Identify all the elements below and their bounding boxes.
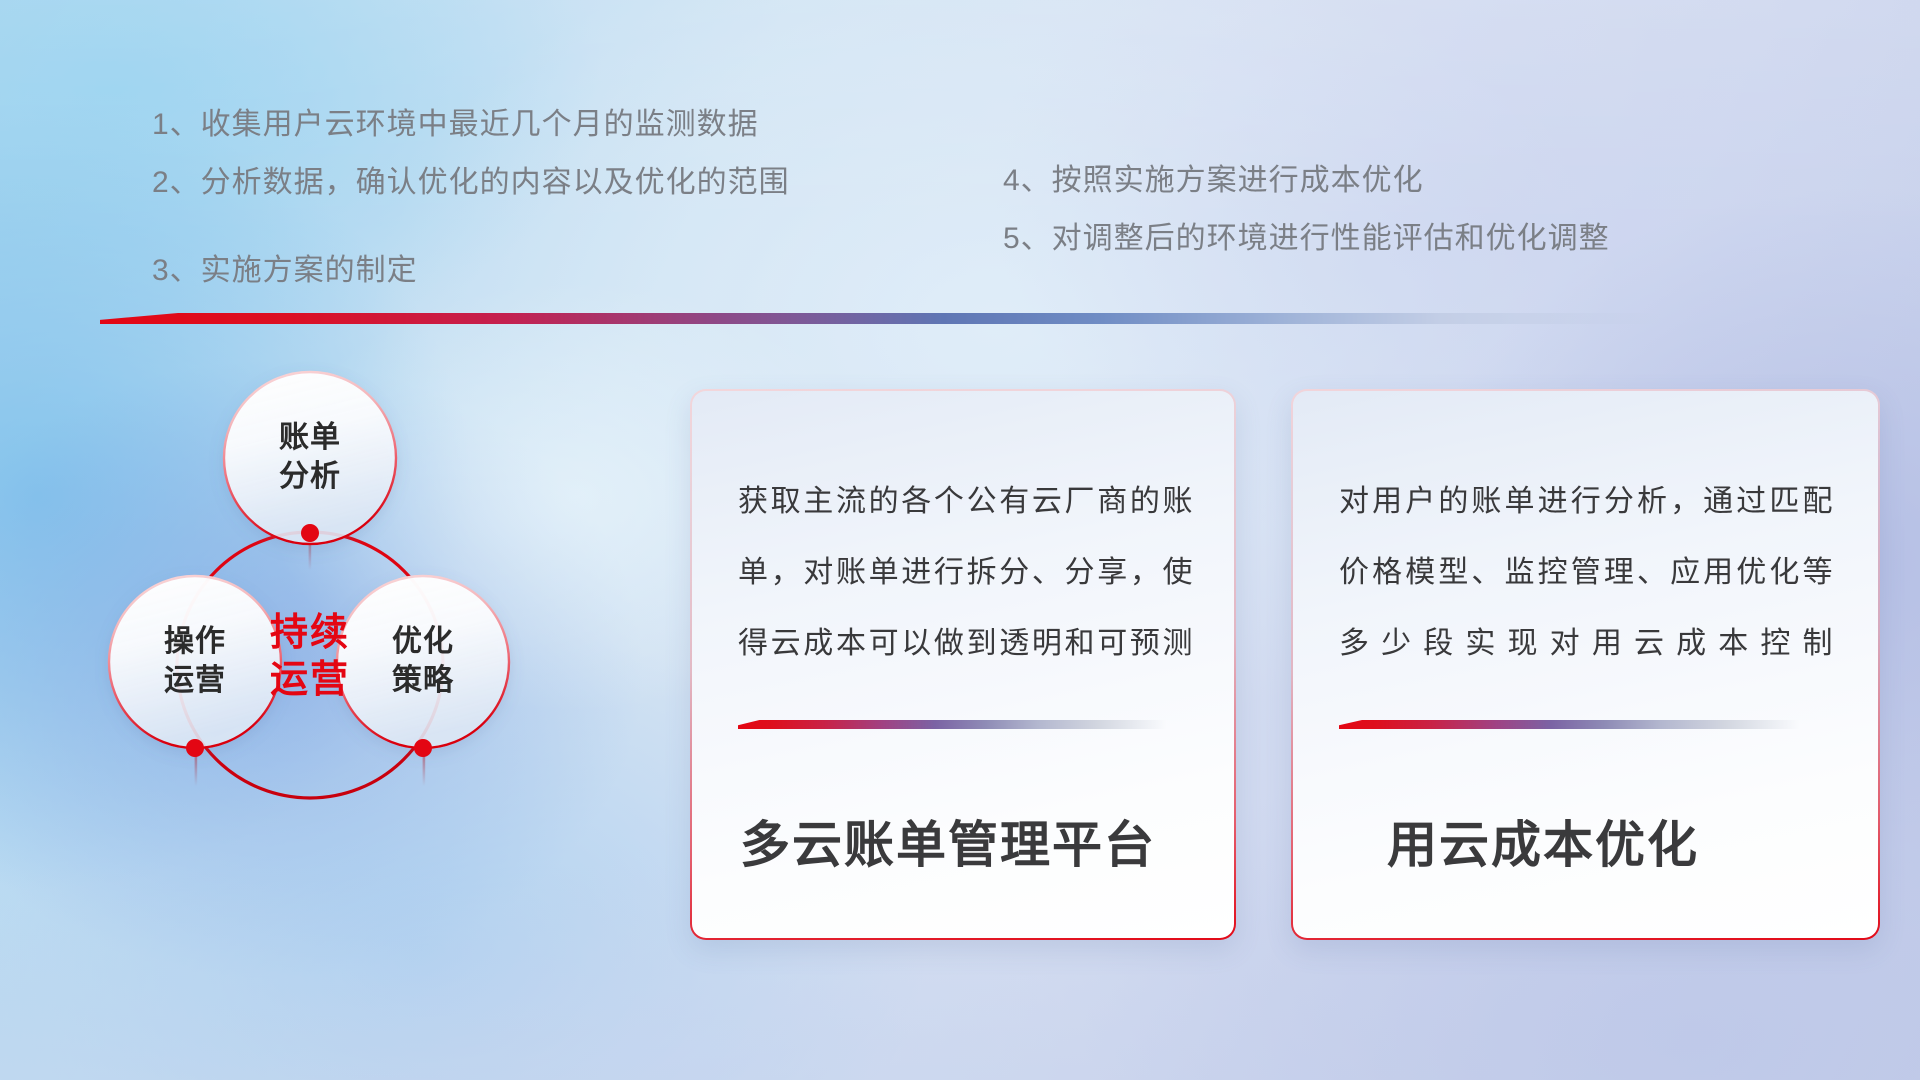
venn-node-dot-top: [301, 524, 319, 542]
venn-node-dot-left: [186, 739, 204, 757]
card-inner: 获取主流的各个公有云厂商的账单，对账单进行拆分、分享，使得云成本可以做到透明和可…: [692, 391, 1234, 938]
card-body-text: 对用户的账单进行分析，通过匹配价格模型、监控管理、应用优化等多少段实现对用云成本…: [1339, 467, 1834, 679]
card-accent-rule: [1339, 720, 1799, 729]
section-divider: [100, 313, 1660, 324]
card-title: 多云账单管理平台: [740, 805, 1234, 877]
venn-diagram: 账单 分析 操作 运营 优化 策略 持续 运营: [95, 350, 655, 970]
card-cloud-cost-optimization[interactable]: 对用户的账单进行分析，通过匹配价格模型、监控管理、应用优化等多少段实现对用云成本…: [1291, 389, 1880, 940]
step-item-1: 1、收集用户云环境中最近几个月的监测数据: [152, 99, 759, 143]
card-accent-rule: [738, 720, 1166, 729]
venn-node-dot-right: [414, 739, 432, 757]
card-multicloud-billing[interactable]: 获取主流的各个公有云厂商的账单，对账单进行拆分、分享，使得云成本可以做到透明和可…: [690, 389, 1236, 940]
card-title: 用云成本优化: [1387, 805, 1878, 877]
step-item-2: 2、分析数据，确认优化的内容以及优化的范围: [152, 157, 790, 201]
venn-center-label: 持续 运营: [210, 610, 410, 704]
card-body-text: 获取主流的各个公有云厂商的账单，对账单进行拆分、分享，使得云成本可以做到透明和可…: [738, 467, 1194, 679]
step-item-5: 5、对调整后的环境进行性能评估和优化调整: [1003, 213, 1610, 257]
section-divider-bar: [100, 313, 1660, 324]
step-item-3: 3、实施方案的制定: [152, 245, 418, 289]
card-inner: 对用户的账单进行分析，通过匹配价格模型、监控管理、应用优化等多少段实现对用云成本…: [1293, 391, 1878, 938]
step-item-4: 4、按照实施方案进行成本优化: [1003, 155, 1424, 199]
venn-bubble-label-top: 账单 分析: [230, 418, 390, 496]
